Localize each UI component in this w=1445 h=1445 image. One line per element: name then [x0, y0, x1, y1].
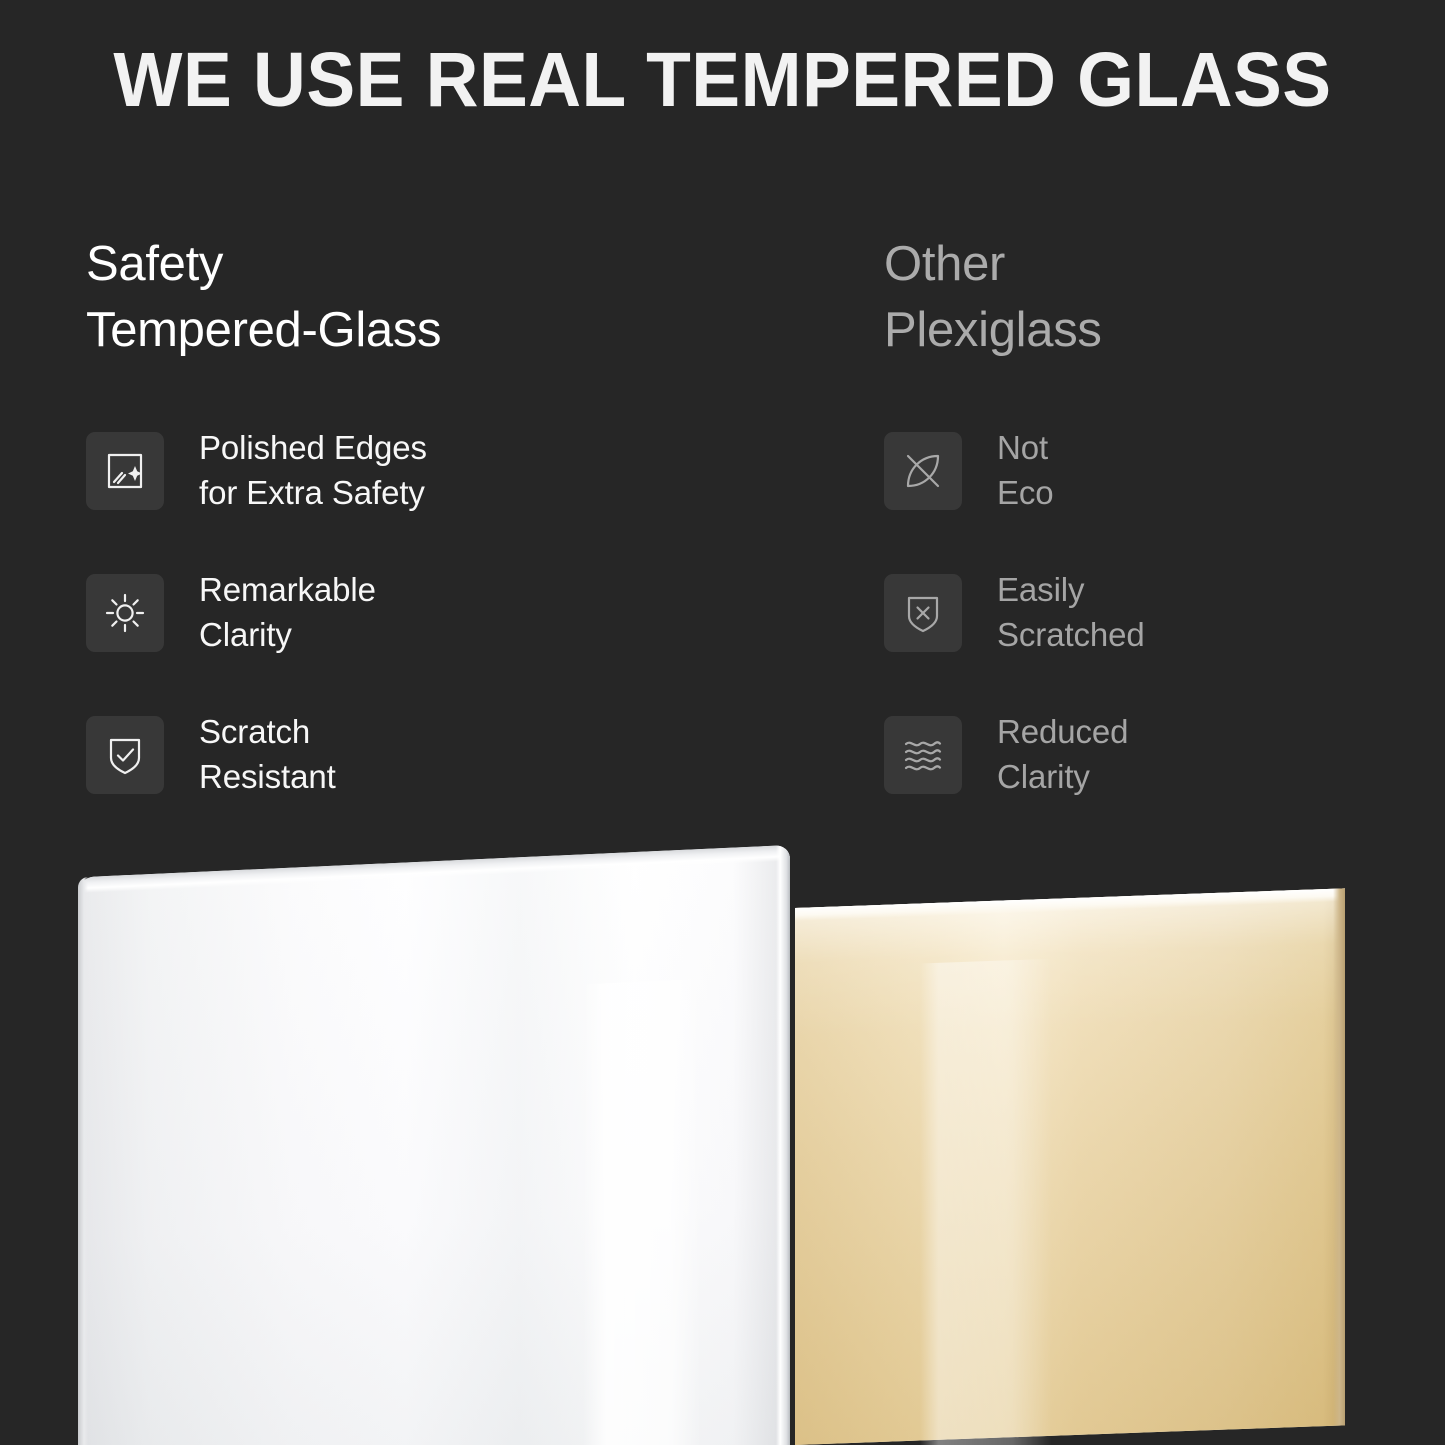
plexiglass-panel-reflection — [920, 959, 1052, 1445]
feature-item: Scratch Resistant — [86, 715, 646, 795]
shield-x-icon — [884, 574, 962, 652]
comparison-columns: Safety Tempered-Glass Polished Edges for… — [0, 232, 1445, 832]
column-title: Other Plexiglass — [884, 232, 1444, 363]
leaf-crossed-out-icon — [884, 432, 962, 510]
feature-label: Scratch Resistant — [199, 710, 336, 800]
feature-label: Reduced Clarity — [997, 710, 1128, 800]
feature-list: Not Eco Easily Scratched — [884, 431, 1444, 795]
feature-list: Polished Edges for Extra Safety Remarkab… — [86, 431, 646, 795]
plexiglass-panel-top-edge — [795, 888, 1345, 921]
feature-item: Remarkable Clarity — [86, 573, 646, 653]
tempered-glass-panel — [78, 845, 790, 1445]
comparison-infographic: WE USE REAL TEMPERED GLASS Safety Temper… — [0, 0, 1445, 1445]
page-title: WE USE REAL TEMPERED GLASS — [36, 42, 1409, 119]
feature-item: Not Eco — [884, 431, 1444, 511]
column-plexiglass: Other Plexiglass Not Eco — [884, 232, 1444, 795]
wavy-lines-icon — [884, 716, 962, 794]
polished-glass-pane-icon — [86, 432, 164, 510]
plexiglass-panel-right-edge — [1333, 888, 1345, 1425]
sun-brightness-icon — [86, 574, 164, 652]
tempered-glass-panel-right-edge — [776, 845, 790, 1445]
product-photo — [0, 845, 1445, 1445]
column-tempered-glass: Safety Tempered-Glass Polished Edges for… — [86, 232, 646, 795]
feature-label: Remarkable Clarity — [199, 568, 376, 658]
tempered-glass-panel-left-edge — [78, 877, 88, 1445]
feature-label: Not Eco — [997, 426, 1054, 516]
feature-item: Reduced Clarity — [884, 715, 1444, 795]
feature-item: Polished Edges for Extra Safety — [86, 431, 646, 511]
feature-label: Polished Edges for Extra Safety — [199, 426, 427, 516]
tempered-glass-panel-reflection — [583, 979, 701, 1445]
feature-item: Easily Scratched — [884, 573, 1444, 653]
column-title: Safety Tempered-Glass — [86, 232, 646, 363]
shield-check-icon — [86, 716, 164, 794]
tempered-glass-panel-top-edge — [78, 845, 790, 893]
feature-label: Easily Scratched — [997, 568, 1145, 658]
plexiglass-panel — [795, 888, 1345, 1445]
